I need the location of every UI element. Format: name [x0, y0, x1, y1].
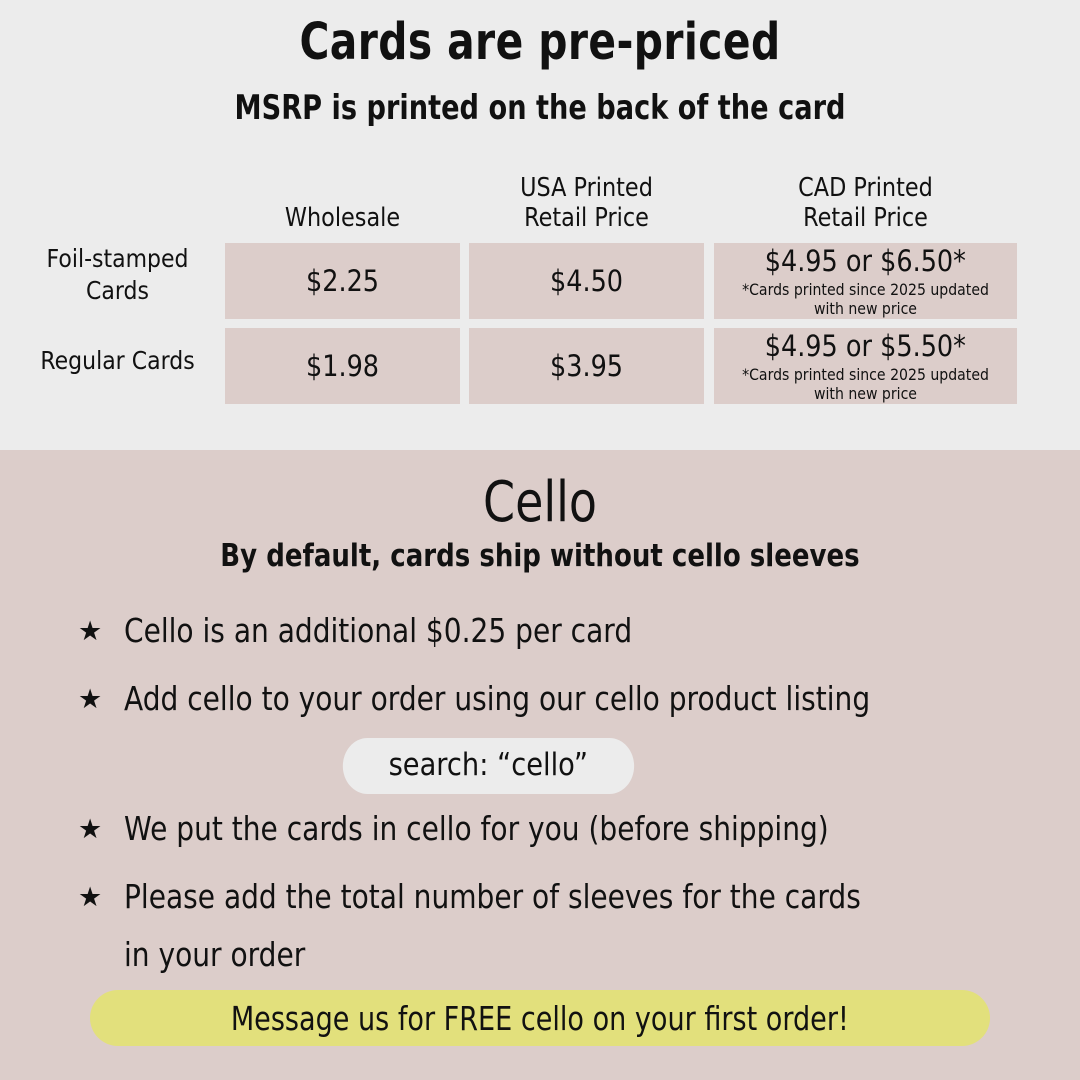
list-item-label: Please add the total number of sleeves f…: [124, 868, 884, 984]
star-icon: ★: [78, 868, 124, 926]
table-cell: $4.95 or $6.50* *Cards printed since 202…: [714, 243, 1017, 319]
column-header-line-2: Retail Price: [485, 203, 687, 233]
column-header-line-2: Retail Price: [735, 203, 996, 233]
column-header-line: Wholesale: [241, 203, 443, 233]
cell-note: *Cards printed since 2025 updated with n…: [732, 280, 999, 318]
cell-note: *Cards printed since 2025 updated with n…: [732, 365, 999, 403]
column-header-cad-retail: CAD Printed Retail Price: [735, 173, 996, 233]
cell-value: $1.98: [306, 349, 379, 383]
row-label-line-2: Cards: [32, 275, 204, 307]
page-subtitle: MSRP is printed on the back of the card: [108, 88, 972, 128]
table-cell: $4.95 or $5.50* *Cards printed since 202…: [714, 328, 1017, 404]
table-cell: $2.25: [225, 243, 460, 319]
cell-value: $2.25: [306, 264, 379, 298]
list-item-label: Add cello to your order using our cello …: [124, 670, 884, 728]
row-label-line-1: Foil-stamped: [32, 243, 204, 275]
column-header-line-1: USA Printed: [485, 173, 687, 203]
cell-value: $4.95 or $6.50*: [765, 244, 966, 278]
cell-value: $3.95: [550, 349, 623, 383]
table-cell: $3.95: [469, 328, 704, 404]
list-item: ★ Add cello to your order using our cell…: [78, 670, 1018, 728]
column-header-wholesale: Wholesale: [241, 203, 443, 233]
cell-value: $4.50: [550, 264, 623, 298]
table-cell: $1.98: [225, 328, 460, 404]
row-label-foil-stamped-cards: Foil-stamped Cards: [32, 243, 204, 307]
list-item-label: We put the cards in cello for you (befor…: [124, 800, 884, 858]
star-icon: ★: [78, 602, 124, 660]
cello-section: Cello By default, cards ship without cel…: [0, 450, 1080, 1080]
pricing-table: Wholesale USA Printed Retail Price CAD P…: [0, 165, 1080, 415]
cta-banner[interactable]: Message us for FREE cello on your first …: [90, 990, 990, 1046]
star-icon: ★: [78, 670, 124, 728]
cello-title: Cello: [97, 470, 983, 535]
list-item: ★ Cello is an additional $0.25 per card: [78, 602, 1018, 660]
column-header-usa-retail: USA Printed Retail Price: [485, 173, 687, 233]
search-pill-container: search: “cello”: [32, 738, 944, 794]
list-item: ★ We put the cards in cello for you (bef…: [78, 800, 1018, 858]
column-header-line-1: CAD Printed: [735, 173, 996, 203]
cello-subtitle: By default, cards ship without cello sle…: [86, 538, 993, 574]
cell-value: $4.95 or $5.50*: [765, 329, 966, 363]
table-cell: $4.50: [469, 243, 704, 319]
page-title: Cards are pre-priced: [108, 13, 972, 72]
cello-bullet-list: ★ Cello is an additional $0.25 per card …: [78, 602, 1018, 994]
list-item-label: Cello is an additional $0.25 per card: [124, 602, 884, 660]
pricing-section: Cards are pre-priced MSRP is printed on …: [0, 0, 1080, 450]
row-label-regular-cards: Regular Cards: [32, 345, 204, 377]
cta-banner-label: Message us for FREE cello on your first …: [231, 999, 849, 1038]
star-icon: ★: [78, 800, 124, 858]
search-hint-pill[interactable]: search: “cello”: [343, 738, 634, 794]
list-item: ★ Please add the total number of sleeves…: [78, 868, 1018, 984]
